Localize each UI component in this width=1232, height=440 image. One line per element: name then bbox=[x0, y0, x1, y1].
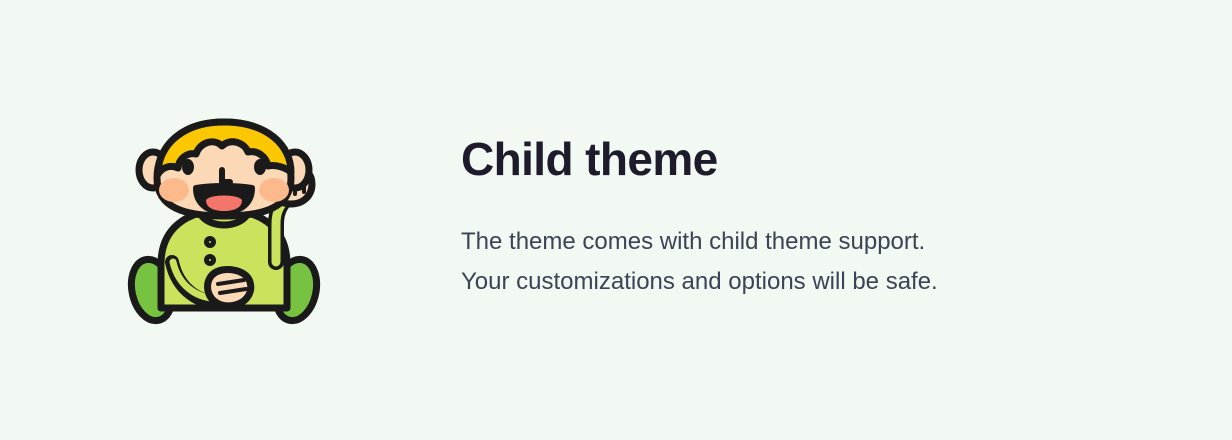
feature-text-column: Child theme The theme comes with child t… bbox=[461, 133, 1101, 302]
feature-description-line-2: Your customizations and options will be … bbox=[461, 262, 1101, 302]
feature-description: The theme comes with child theme support… bbox=[461, 186, 1101, 302]
page-title: Child theme bbox=[461, 133, 1101, 186]
feature-description-line-1: The theme comes with child theme support… bbox=[461, 222, 1101, 262]
baby-sitting-waving-illustration bbox=[126, 112, 322, 328]
child-theme-feature-section: Child theme The theme comes with child t… bbox=[0, 0, 1232, 440]
